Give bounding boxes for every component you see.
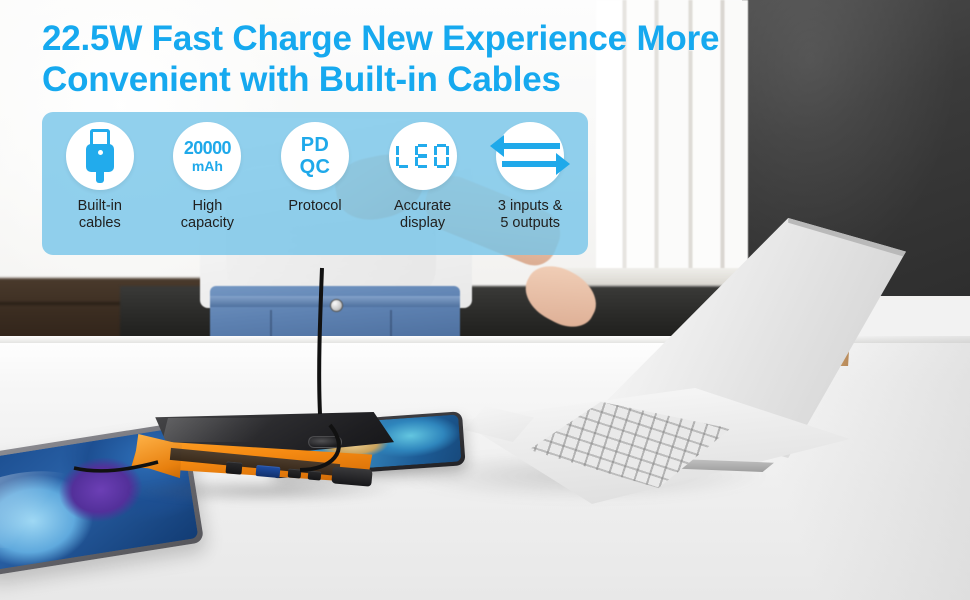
led-seven-segment-icon <box>396 144 449 168</box>
input-output-arrows-icon <box>496 135 564 177</box>
feature-icon-circle: PD QC <box>281 122 349 190</box>
feature-label: Built-in cables <box>78 198 122 232</box>
seg-char-L <box>396 144 411 168</box>
product-banner: 22.5W Fast Charge New Experience More Co… <box>0 0 970 600</box>
headline: 22.5W Fast Charge New Experience More Co… <box>42 18 832 101</box>
feature-icon-circle <box>389 122 457 190</box>
arrow-right-shaft <box>502 161 560 167</box>
segment-a <box>418 144 428 147</box>
feature-label: High capacity <box>181 198 234 232</box>
pd-qc-text-icon: PD QC <box>300 135 331 177</box>
usb-cable-plug-icon <box>77 129 123 183</box>
capacity-text-icon: 20000 mAh <box>184 139 231 173</box>
segment-d <box>418 165 428 168</box>
headline-line-1: 22.5W Fast Charge New Experience More <box>42 18 832 59</box>
cable-to-tablet <box>74 462 158 471</box>
segment-f <box>434 146 437 155</box>
feature-accurate-display: Accurate display <box>369 122 477 232</box>
capacity-value: 20000 <box>184 139 231 157</box>
feature-label: 3 inputs & 5 outputs <box>498 198 563 232</box>
seg-char-E <box>415 144 430 168</box>
feature-label: Accurate display <box>394 198 451 232</box>
arrow-left-shaft <box>502 143 560 149</box>
cable-from-hand <box>319 268 322 414</box>
segment-b <box>446 146 449 155</box>
arrow-right-head <box>556 153 570 175</box>
segment-d <box>437 165 447 168</box>
plug-cord <box>96 171 104 183</box>
feature-high-capacity: 20000 mAh High capacity <box>154 122 262 232</box>
segment-f <box>396 146 399 155</box>
protocol-qc: QC <box>300 157 331 177</box>
segment-g <box>418 154 428 157</box>
feature-icon-circle: 20000 mAh <box>173 122 241 190</box>
plug-body <box>86 144 114 172</box>
plug-dot <box>98 150 103 155</box>
seg-char-D <box>434 144 449 168</box>
feature-inputs-outputs: 3 inputs & 5 outputs <box>476 122 584 232</box>
segment-d <box>399 165 409 168</box>
feature-icon-circle <box>496 122 564 190</box>
plug-tip <box>90 129 110 145</box>
feature-highlight-panel: Built-in cables 20000 mAh High capacity … <box>42 112 588 255</box>
feature-label: Protocol <box>288 198 341 215</box>
cable-to-power-bank <box>300 425 339 470</box>
feature-built-in-cables: Built-in cables <box>46 122 154 232</box>
arrow-left-head <box>490 135 504 157</box>
headline-line-2: Convenient with Built-in Cables <box>42 59 832 100</box>
protocol-pd: PD <box>300 135 331 155</box>
feature-protocol: PD QC Protocol <box>261 122 369 215</box>
capacity-unit: mAh <box>184 159 231 173</box>
feature-icon-circle <box>66 122 134 190</box>
